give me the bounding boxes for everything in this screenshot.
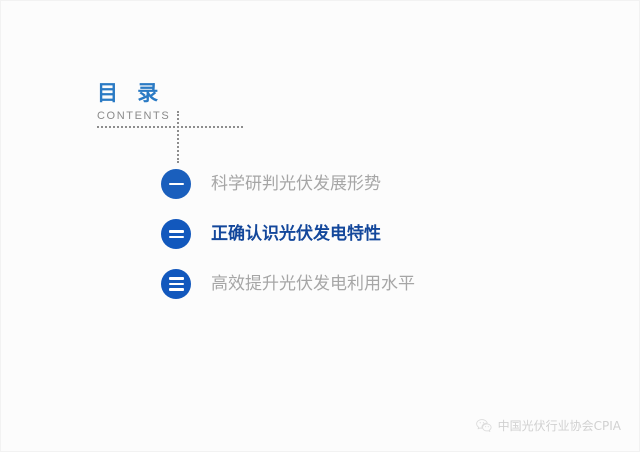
- vertical-dashed-rule: [177, 111, 179, 163]
- wechat-logo-icon: [475, 417, 493, 435]
- page-title-cn: 目 录: [97, 81, 297, 105]
- numeral-one-circle-icon: [161, 169, 191, 199]
- page-title-en: CONTENTS: [97, 109, 297, 123]
- contents-item-label-1: 科学研判光伏发展形势: [211, 173, 381, 195]
- numeral-bar: [169, 236, 184, 239]
- watermark: 中国光伏行业协会CPIA: [475, 417, 621, 435]
- contents-item-label-2: 正确认识光伏发电特性: [211, 223, 381, 245]
- numeral-two-circle-icon: [161, 219, 191, 249]
- numeral-three-circle-icon: [161, 269, 191, 299]
- numeral-bar: [169, 283, 184, 286]
- contents-list: 科学研判光伏发展形势 正确认识光伏发电特性 高效提升光伏发电利用水平: [161, 159, 581, 309]
- numeral-bar: [169, 277, 184, 280]
- numeral-bar: [169, 288, 184, 291]
- horizontal-dashed-rule: [97, 126, 243, 128]
- list-item[interactable]: 科学研判光伏发展形势: [161, 159, 581, 209]
- watermark-label: 中国光伏行业协会CPIA: [498, 418, 621, 434]
- contents-item-label-3: 高效提升光伏发电利用水平: [211, 273, 415, 295]
- list-item[interactable]: 正确认识光伏发电特性: [161, 209, 581, 259]
- list-item[interactable]: 高效提升光伏发电利用水平: [161, 259, 581, 309]
- page-title: 目 录 CONTENTS: [97, 81, 297, 123]
- slide-canvas: 目 录 CONTENTS 科学研判光伏发展形势 正确认识光伏发电特性: [0, 0, 640, 452]
- numeral-bar: [169, 183, 184, 186]
- numeral-bar: [169, 230, 184, 233]
